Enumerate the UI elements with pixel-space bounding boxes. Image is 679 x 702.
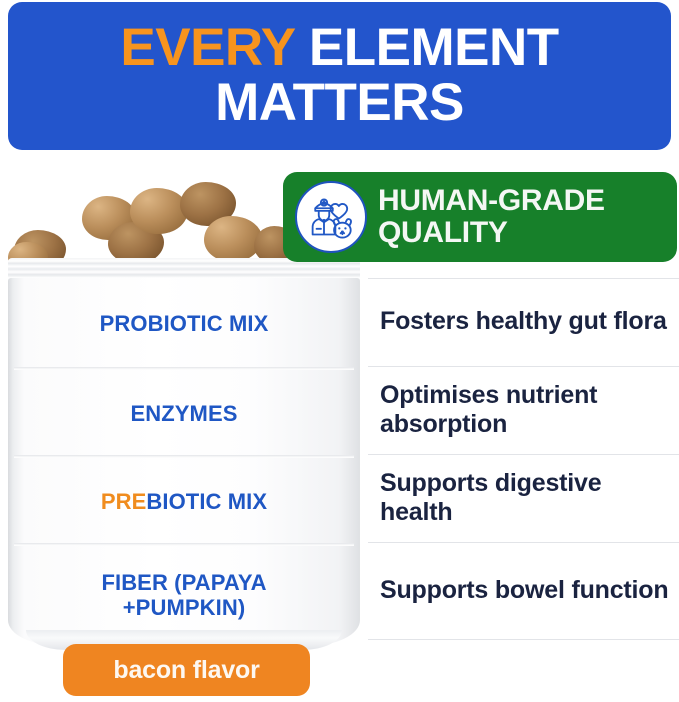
badge-text: HUMAN-GRADE QUALITY [378,185,605,249]
benefit-text: Supports digestive health [380,469,673,528]
headline-accent-word: EVERY [120,18,294,77]
bacon-flavor-tag: bacon flavor [63,644,310,696]
headline-line-2: MATTERS [215,75,464,131]
human-grade-quality-badge: HUMAN-GRADE QUALITY [283,172,677,262]
ingredient-label: FIBER (PAPAYA+PUMPKIN) [101,571,266,620]
supplement-container: PROBIOTIC MIX ENZYMES PREBIOTIC MIX FIBE… [8,258,360,646]
ingredient-label-text: PROBIOTIC MIX [100,311,269,336]
ingredient-row-probiotic: PROBIOTIC MIX [8,278,360,370]
benefit-row-enzymes: Optimises nutrient absorption [368,366,679,454]
ingredient-row-prebiotic: PREBIOTIC MIX [8,458,360,546]
header-banner: EVERY ELEMENT MATTERS [8,2,671,150]
badge-line-1: HUMAN-GRADE [378,185,605,217]
ingredient-row-enzymes: ENZYMES [8,370,360,458]
ingredient-label-line-2: +PUMPKIN) [123,595,246,620]
product-infographic: EVERY ELEMENT MATTERS PROBIOTIC MIX ENZY… [0,0,679,702]
benefits-column: Fosters healthy gut flora Optimises nutr… [368,278,679,643]
ingredient-label-text: BIOTIC MIX [146,489,267,514]
ingredient-label: PREBIOTIC MIX [101,490,267,515]
flavor-tag-label: bacon flavor [113,656,259,685]
benefit-text: Supports bowel function [380,576,668,605]
container-label-column: PROBIOTIC MIX ENZYMES PREBIOTIC MIX FIBE… [8,278,360,646]
headline-line-1: EVERY ELEMENT [120,21,558,76]
ingredient-label-text: ENZYMES [130,401,237,426]
ingredient-label: ENZYMES [130,402,237,427]
vet-with-dog-and-heart-icon [295,181,367,253]
ingredient-label-accent: PRE [101,489,147,514]
headline-rest-word: ELEMENT [309,18,559,77]
benefit-row-fiber: Supports bowel function [368,542,679,640]
ingredient-label: PROBIOTIC MIX [100,312,269,337]
benefit-row-probiotic: Fosters healthy gut flora [368,278,679,366]
benefit-text: Optimises nutrient absorption [380,381,673,440]
kibble-pile [8,176,290,262]
benefit-row-prebiotic: Supports digestive health [368,454,679,542]
ingredient-label-line-1: FIBER (PAPAYA [101,570,266,595]
benefit-text: Fosters healthy gut flora [380,307,667,336]
badge-line-2: QUALITY [378,217,605,249]
